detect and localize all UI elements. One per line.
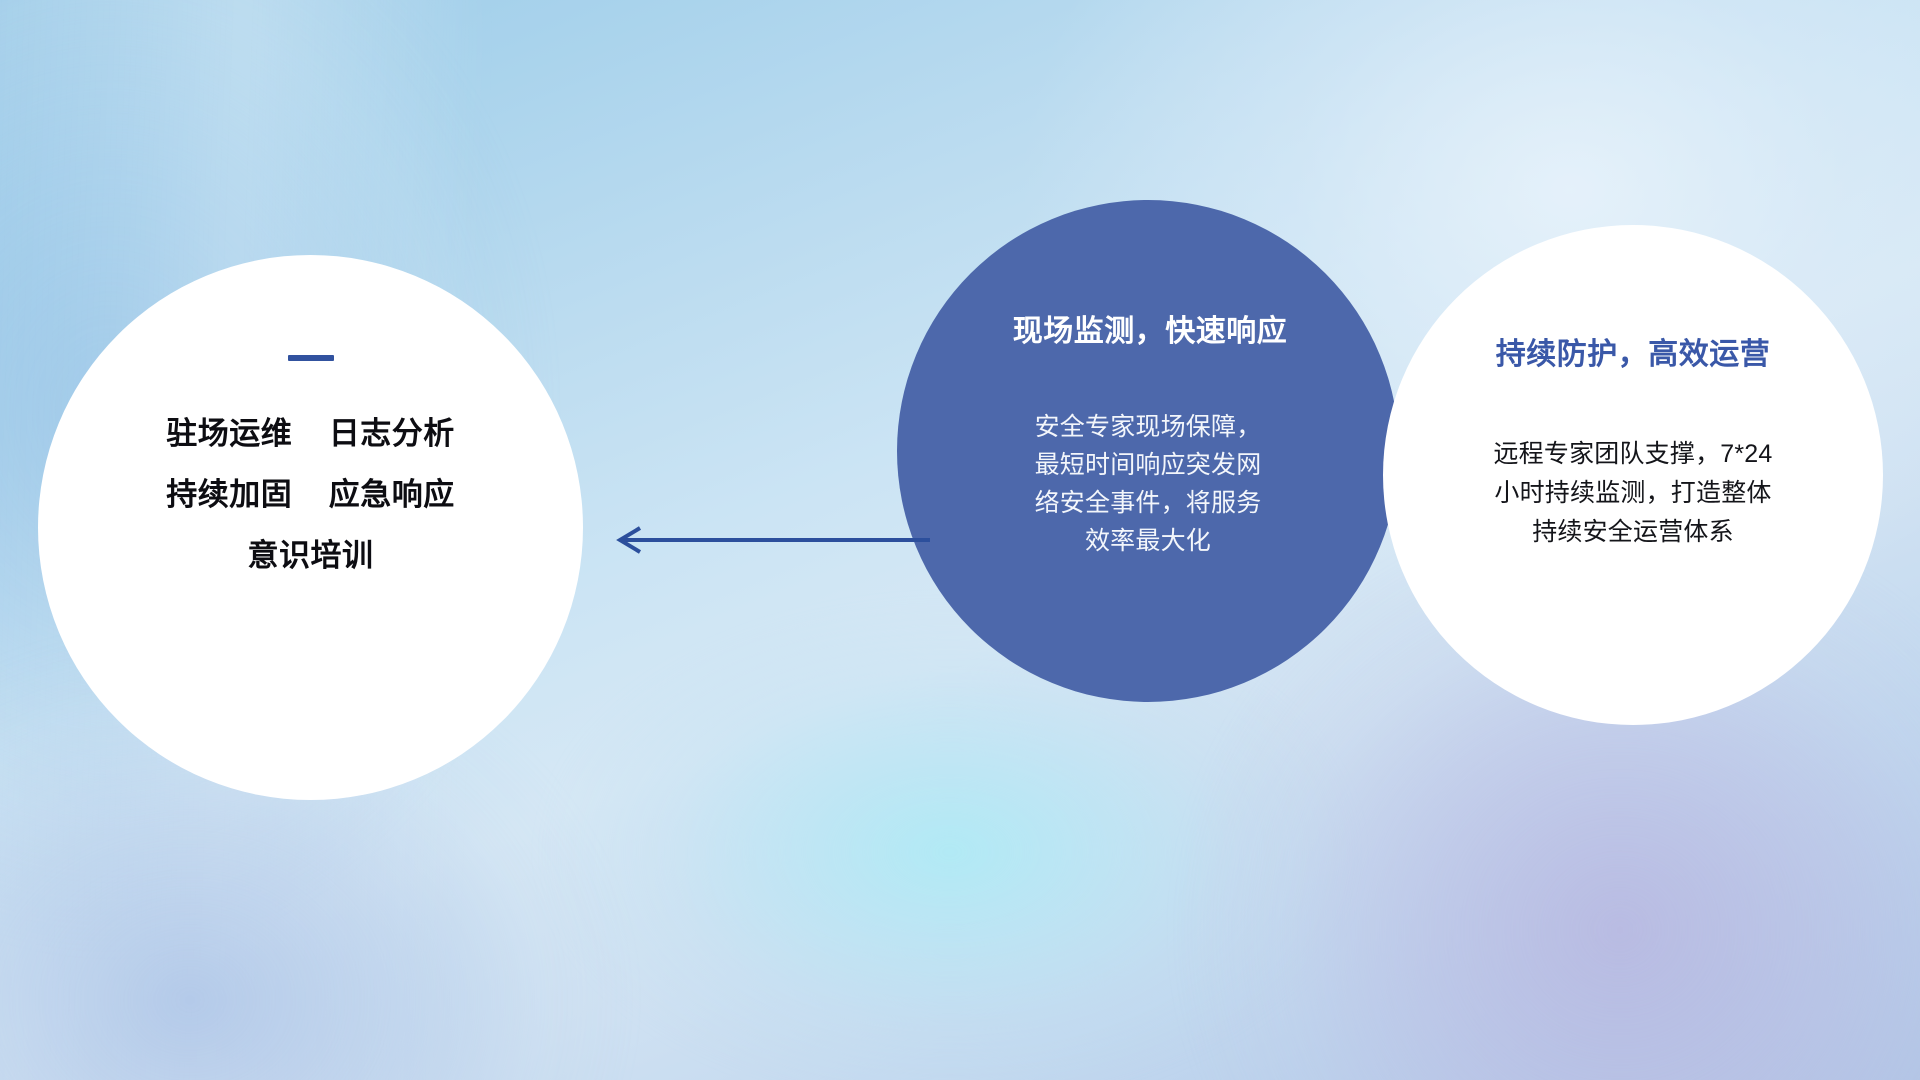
body-line: 小时持续监测，打造整体: [1413, 474, 1853, 513]
body-line: 络安全事件，将服务: [931, 484, 1365, 522]
body-line: 安全专家现场保障，: [931, 408, 1365, 446]
accent-dash-icon: [288, 355, 334, 361]
card-continuous-protection-body: 远程专家团队支撑，7*24 小时持续监测，打造整体 持续安全运营体系: [1413, 435, 1853, 551]
card-onsite-capabilities-lines: 驻场运维 日志分析 持续加固 应急响应 意识培训: [78, 403, 543, 586]
card-onsite-monitoring-body: 安全专家现场保障， 最短时间响应突发网 络安全事件，将服务 效率最大化: [925, 408, 1371, 560]
left-arrow-connector: [600, 522, 930, 558]
card-onsite-capabilities[interactable]: 驻场运维 日志分析 持续加固 应急响应 意识培训: [38, 255, 583, 800]
body-line: 效率最大化: [931, 522, 1365, 560]
card-onsite-monitoring[interactable]: 现场监测，快速响应 安全专家现场保障， 最短时间响应突发网 络安全事件，将服务 …: [897, 200, 1399, 702]
card-onsite-capabilities-content: 驻场运维 日志分析 持续加固 应急响应 意识培训: [38, 355, 583, 586]
card-continuous-protection[interactable]: 持续防护，高效运营 远程专家团队支撑，7*24 小时持续监测，打造整体 持续安全…: [1383, 225, 1883, 725]
slide-canvas: 现场监测，快速响应 安全专家现场保障， 最短时间响应突发网 络安全事件，将服务 …: [0, 0, 1920, 1080]
capability-row: 驻场运维 日志分析: [78, 403, 543, 464]
capability-row: 持续加固 应急响应: [78, 464, 543, 525]
card-onsite-monitoring-content: 现场监测，快速响应 安全专家现场保障， 最短时间响应突发网 络安全事件，将服务 …: [897, 306, 1399, 560]
body-line: 持续安全运营体系: [1413, 513, 1853, 552]
body-line: 最短时间响应突发网: [931, 446, 1365, 484]
card-onsite-monitoring-title: 现场监测，快速响应: [929, 306, 1371, 350]
card-continuous-protection-content: 持续防护，高效运营 远程专家团队支撑，7*24 小时持续监测，打造整体 持续安全…: [1383, 329, 1883, 551]
capability-row: 意识培训: [78, 525, 543, 586]
body-line: 远程专家团队支撑，7*24: [1413, 435, 1853, 474]
card-continuous-protection-title: 持续防护，高效运营: [1413, 329, 1853, 373]
